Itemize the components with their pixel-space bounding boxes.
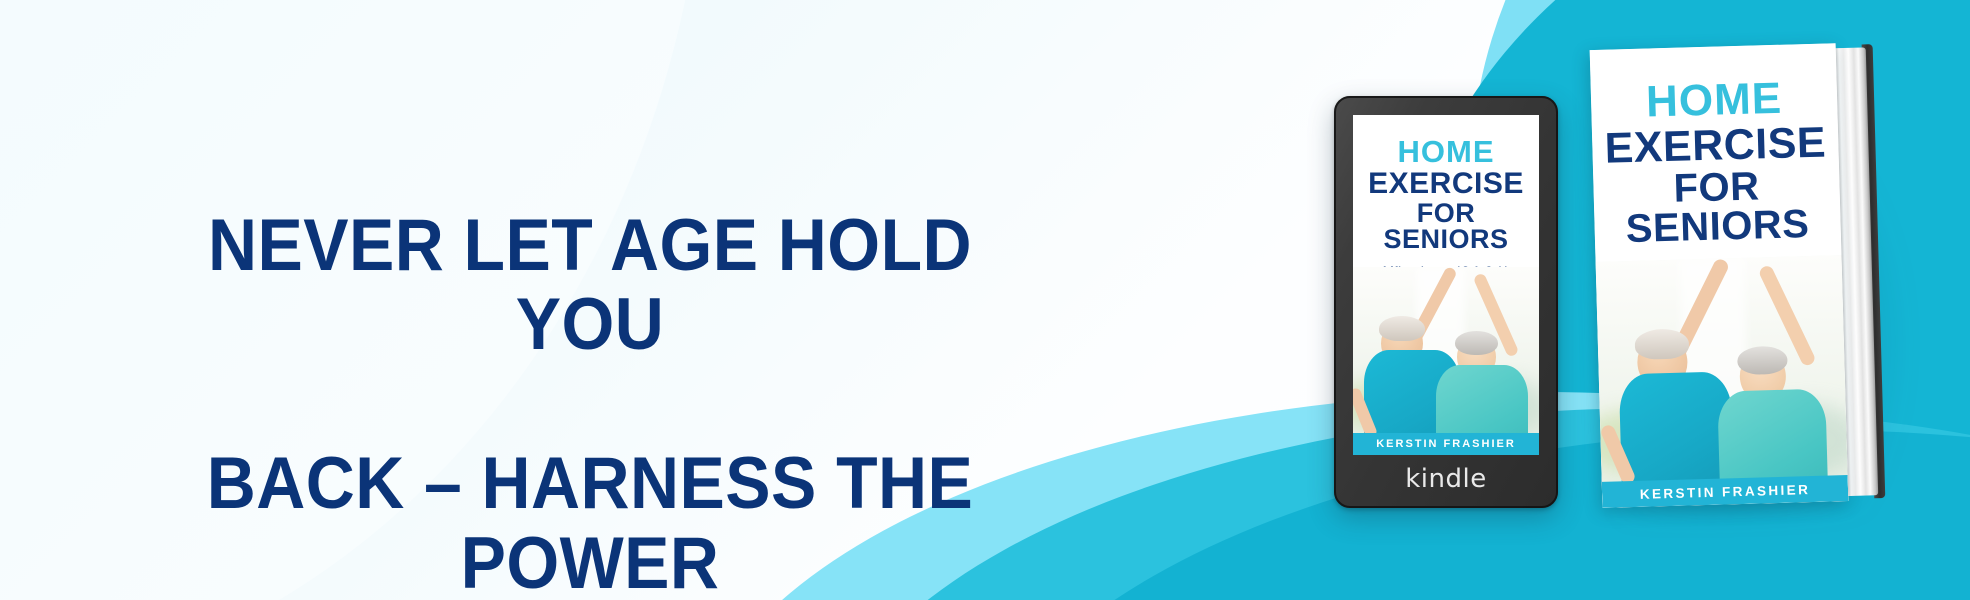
book-front-cover: HOME EXERCISE FOR SENIORS A Miraculous a… bbox=[1590, 43, 1849, 508]
promo-banner: NEVER LET AGE HOLD YOU BACK – HARNESS TH… bbox=[0, 0, 1970, 600]
headline-line-2: BACK – HARNESS THE POWER bbox=[125, 444, 1055, 600]
cover-title-for-seniors: FOR SENIORS bbox=[1593, 165, 1841, 250]
headline-line-1: NEVER LET AGE HOLD YOU bbox=[125, 206, 1055, 365]
kindle-author-band: KERSTIN FRASHIER bbox=[1353, 433, 1539, 455]
kindle-device-mockup: HOME EXERCISE FOR SENIORS A Miraculous a… bbox=[1334, 96, 1558, 508]
kindle-title-home: HOME bbox=[1353, 137, 1539, 167]
book-cover-title-group: HOME EXERCISE FOR SENIORS bbox=[1590, 43, 1842, 250]
kindle-title-exercise: EXERCISE bbox=[1353, 169, 1539, 198]
kindle-cover-photo: KERSTIN FRASHIER bbox=[1353, 267, 1539, 455]
book-cover-artwork: HOME EXERCISE FOR SENIORS A Miraculous a… bbox=[1590, 43, 1849, 508]
woman-hair bbox=[1737, 345, 1788, 374]
kindle-screen: HOME EXERCISE FOR SENIORS A Miraculous a… bbox=[1353, 115, 1539, 455]
banner-headline: NEVER LET AGE HOLD YOU BACK – HARNESS TH… bbox=[125, 126, 1055, 600]
kindle-brand-logo: kindle bbox=[1334, 464, 1558, 494]
kindle-man-hair bbox=[1379, 316, 1425, 341]
cover-photo: KERSTIN FRASHIER bbox=[1596, 255, 1849, 508]
kindle-woman-hair bbox=[1455, 331, 1498, 355]
kindle-cover-artwork: HOME EXERCISE FOR SENIORS A Miraculous a… bbox=[1353, 115, 1539, 455]
kindle-title-group: HOME EXERCISE FOR SENIORS bbox=[1353, 115, 1539, 253]
man-hair bbox=[1634, 328, 1689, 359]
kindle-title-for-seniors: FOR SENIORS bbox=[1353, 200, 1539, 253]
hardcover-book-mockup: HOME EXERCISE FOR SENIORS A Miraculous a… bbox=[1590, 42, 1889, 508]
cover-title-exercise: EXERCISE bbox=[1592, 121, 1839, 170]
cover-title-home: HOME bbox=[1591, 75, 1838, 125]
